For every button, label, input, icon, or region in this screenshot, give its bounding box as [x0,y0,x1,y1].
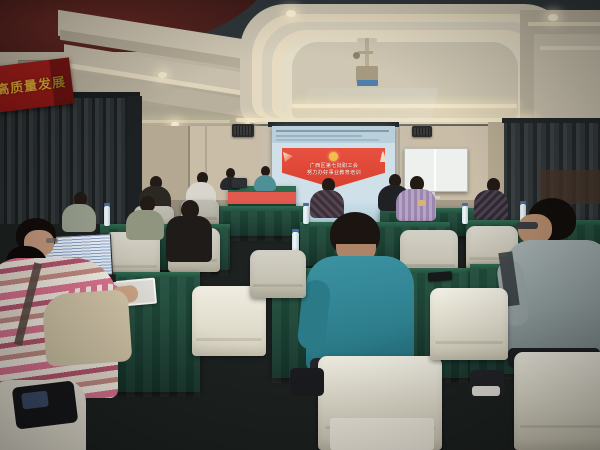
left-ceiling-speaker [232,124,254,137]
chair[interactable] [430,288,508,360]
right-ceiling-speaker [412,126,432,137]
attendee-mid-right-torso [310,190,344,218]
attendee-badge [418,200,426,206]
water-bottle[interactable] [104,206,110,226]
attendee-purple-torso [396,189,436,221]
ceiling-projector [352,38,382,90]
water-bottle[interactable] [462,206,468,224]
attendee-right-floral-torso [474,190,508,220]
slide-title-line2: 努力办好事业教育培训 [288,170,380,177]
attendee-front-left-lap [42,289,133,367]
water-bottle[interactable] [303,206,309,224]
shoe-sole [472,386,500,396]
attendee-far-left-torso [62,204,96,232]
slide-title-line1: 广西区第七批职工会 [288,163,380,170]
attendee-olive-torso [126,210,164,240]
downlight [158,72,167,78]
wall-banner: 高质量发展 [0,57,75,112]
chair[interactable] [250,250,306,298]
eyeglasses [516,222,538,229]
eyeglasses [46,238,58,243]
downlight [548,14,558,21]
bag-on-chair [290,368,324,396]
presenter-right-torso [254,175,276,191]
presenter-laptop [231,178,247,188]
attendee-blacktop-torso [166,216,212,262]
handbag-accent [21,390,49,409]
chair-skirt [330,418,434,450]
downlight [286,10,296,17]
chair[interactable] [514,352,600,450]
phone-on-table[interactable] [428,271,453,282]
conference-room-photo: 高质量发展 广西区第七批职工会 努力办好事业教育培训 [0,0,600,450]
